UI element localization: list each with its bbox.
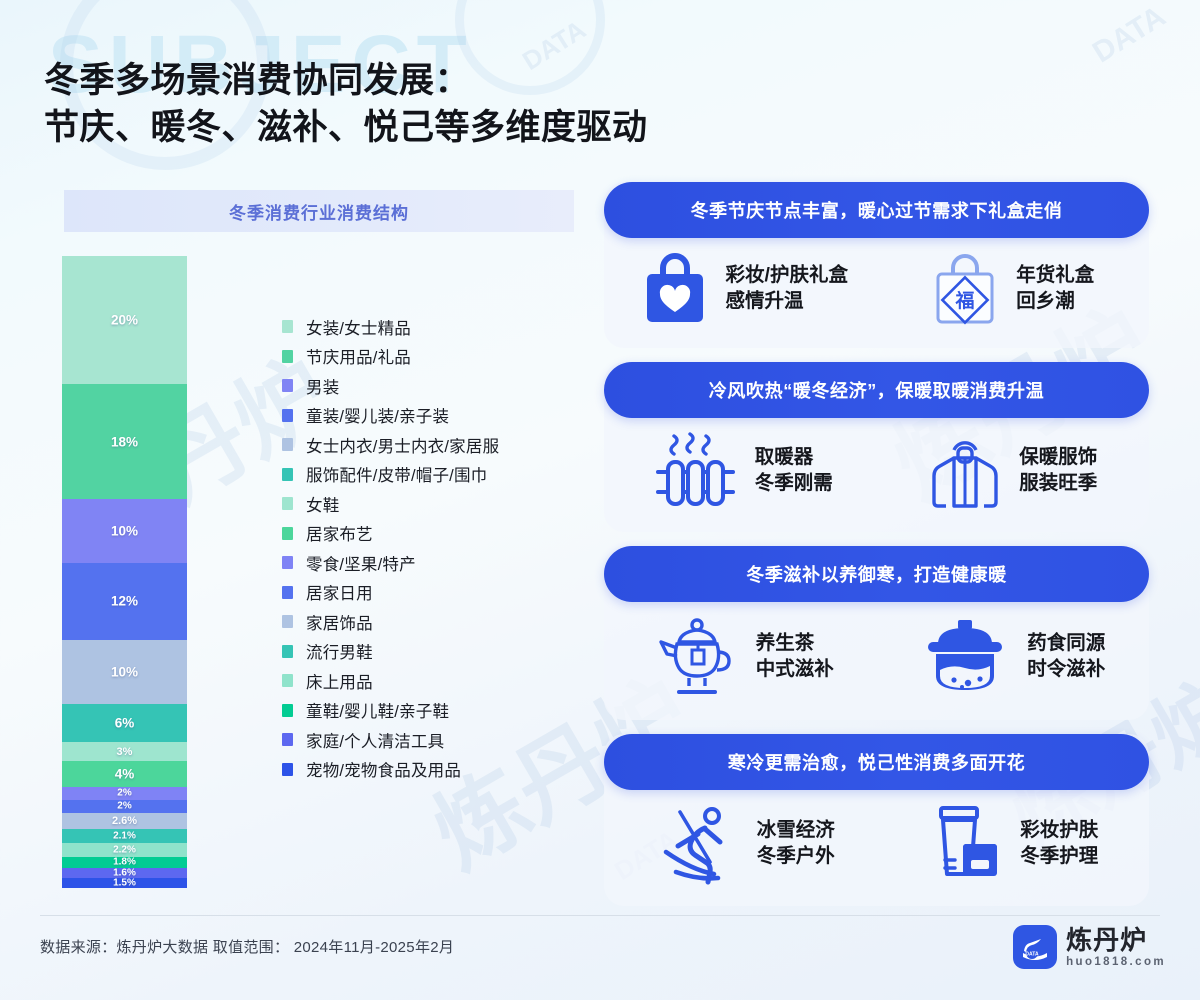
bar-segment-label: 10% [62, 524, 187, 539]
scenario-item-line1: 彩妆护肤 [1020, 817, 1098, 843]
scenario-card-header: 冷风吹热“暖冬经济”，保暖取暖消费升温 [604, 362, 1149, 418]
legend-swatch [282, 674, 293, 687]
bar-segment-label: 3% [62, 746, 187, 758]
scenario-item[interactable]: 药食同源时令滋补 [877, 612, 1146, 700]
scenario-item-caption: 药食同源时令滋补 [1027, 630, 1105, 682]
legend-item[interactable]: 童鞋/婴儿鞋/亲子鞋 [282, 696, 582, 726]
cosmetic-tube-icon [923, 800, 1007, 886]
legend-label: 零食/坚果/特产 [306, 551, 416, 575]
legend-item[interactable]: 床上用品 [282, 666, 582, 696]
gift-bag-heart-icon [637, 248, 713, 328]
teapot-icon [651, 612, 743, 700]
scenario-item-line2: 冬季户外 [757, 843, 835, 869]
page-title-line2: 节庆、暖冬、滋补、悦己等多维度驱动 [44, 105, 864, 152]
scenario-item-line2: 服装旺季 [1019, 470, 1097, 496]
legend-item[interactable]: 女士内衣/男士内衣/家居服 [282, 430, 582, 460]
logo-text-en: huo1818.com [1066, 956, 1166, 968]
logo-mark-icon: DATA [1013, 925, 1057, 969]
scenario-item-line2: 中式滋补 [756, 656, 834, 682]
scenario-card-title: 冬季节庆节点丰富，暖心过节需求下礼盒走俏 [691, 197, 1063, 223]
bar-segment-label: 12% [62, 594, 187, 609]
bar-segment: 18% [62, 384, 187, 499]
scenario-item[interactable]: 冰雪经济冬季户外 [608, 800, 877, 886]
scenario-item-line1: 取暖器 [755, 444, 833, 470]
scenario-item-line1: 彩妆/护肤礼盒 [726, 262, 848, 288]
bar-segment-label: 2.2% [62, 844, 187, 855]
page-title: 冬季多场景消费协同发展： 节庆、暖冬、滋补、悦己等多维度驱动 [44, 58, 864, 151]
scenario-item[interactable]: 取暖器冬季刚需 [608, 428, 877, 512]
bar-segment-label: 2% [62, 788, 187, 799]
bar-segment: 3% [62, 742, 187, 761]
legend-swatch [282, 527, 293, 540]
steamer-pot-icon [916, 614, 1014, 698]
legend-item[interactable]: 节庆用品/礼品 [282, 342, 582, 372]
scenario-item-line1: 冰雪经济 [757, 817, 835, 843]
legend-item[interactable]: 居家日用 [282, 578, 582, 608]
legend-label: 家庭/个人清洁工具 [306, 728, 444, 752]
bar-segment: 2% [62, 787, 187, 800]
legend-item[interactable]: 服饰配件/皮带/帽子/围巾 [282, 460, 582, 490]
legend-swatch [282, 615, 293, 628]
fu-gift-bag-icon: 福 [927, 248, 1003, 328]
legend-item[interactable]: 女鞋 [282, 489, 582, 519]
legend-swatch [282, 645, 293, 658]
scenario-card-body: 冰雪经济冬季户外 彩妆护肤冬季护理 [604, 790, 1149, 898]
bar-segment: 12% [62, 563, 187, 640]
legend-label: 女装/女士精品 [306, 315, 411, 339]
scenario-item-caption: 冰雪经济冬季户外 [757, 817, 835, 869]
bar-segment-label: 20% [62, 312, 187, 327]
down-jacket-icon [924, 428, 1006, 512]
legend-label: 床上用品 [306, 669, 373, 693]
bar-segment: 10% [62, 640, 187, 704]
legend-label: 童鞋/婴儿鞋/亲子鞋 [306, 698, 449, 722]
legend-swatch [282, 763, 293, 776]
scenario-item-line2: 时令滋补 [1027, 656, 1105, 682]
legend-label: 流行男鞋 [306, 639, 373, 663]
legend-label: 居家布艺 [306, 521, 373, 545]
scenario-item-line2: 感情升温 [726, 288, 848, 314]
chart-panel-title: 冬季消费行业消费结构 [229, 199, 409, 224]
page-title-line1: 冬季多场景消费协同发展： [44, 58, 864, 105]
scenario-card: 冷风吹热“暖冬经济”，保暖取暖消费升温 取暖器冬季刚需 保暖服饰服装旺季 [604, 362, 1149, 532]
legend-item[interactable]: 男装 [282, 371, 582, 401]
scenario-item-caption: 养生茶中式滋补 [756, 630, 834, 682]
legend-swatch [282, 468, 293, 481]
chart-panel-header: 冬季消费行业消费结构 [64, 190, 574, 232]
legend-swatch [282, 556, 293, 569]
bar-segment: 2% [62, 800, 187, 813]
legend-label: 女鞋 [306, 492, 339, 516]
legend-item[interactable]: 女装/女士精品 [282, 312, 582, 342]
legend-label: 男装 [306, 374, 339, 398]
stacked-bar-chart: 20%18%10%12%10%6%3%4%2%2%2.6%2.1%2.2%1.8… [62, 256, 187, 888]
scenario-item-line1: 养生茶 [756, 630, 834, 656]
legend-label: 居家日用 [306, 580, 373, 604]
legend-item[interactable]: 童装/婴儿装/亲子装 [282, 401, 582, 431]
scenario-card-body: 取暖器冬季刚需 保暖服饰服装旺季 [604, 418, 1149, 524]
scenario-item-line2: 冬季刚需 [755, 470, 833, 496]
scenario-item-line2: 冬季护理 [1020, 843, 1098, 869]
scenario-card-body: 养生茶中式滋补 药食同源时令滋补 [604, 602, 1149, 712]
legend-label: 家居饰品 [306, 610, 373, 634]
scenario-item-caption: 保暖服饰服装旺季 [1019, 444, 1097, 496]
svg-text:福: 福 [955, 289, 975, 312]
scenario-item[interactable]: 养生茶中式滋补 [608, 612, 877, 700]
scenario-item[interactable]: 保暖服饰服装旺季 [877, 428, 1146, 512]
legend-item[interactable]: 宠物/宠物食品及用品 [282, 755, 582, 785]
legend-swatch [282, 704, 293, 717]
legend-swatch [282, 350, 293, 363]
legend-swatch [282, 320, 293, 333]
legend-swatch [282, 497, 293, 510]
scenario-item[interactable]: 彩妆护肤冬季护理 [877, 800, 1146, 886]
scenario-card-body: 彩妆/护肤礼盒感情升温 福 年货礼盒回乡潮 [604, 238, 1149, 340]
bar-segment-label: 2.6% [62, 815, 187, 827]
legend-label: 节庆用品/礼品 [306, 344, 411, 368]
scenario-item-caption: 取暖器冬季刚需 [755, 444, 833, 496]
legend-swatch [282, 379, 293, 392]
legend-label: 女士内衣/男士内衣/家居服 [306, 433, 499, 457]
legend-swatch [282, 733, 293, 746]
legend-label: 服饰配件/皮带/帽子/围巾 [306, 462, 487, 486]
bar-segment: 20% [62, 256, 187, 384]
scenario-card: 寒冷更需治愈，悦己性消费多面开花 冰雪经济冬季户外 彩妆护肤冬季护理 [604, 734, 1149, 906]
legend-swatch [282, 409, 293, 422]
legend-item[interactable]: 零食/坚果/特产 [282, 548, 582, 578]
scenario-card-header: 寒冷更需治愈，悦己性消费多面开花 [604, 734, 1149, 790]
bar-segment-label: 1.8% [62, 857, 187, 868]
legend-item[interactable]: 流行男鞋 [282, 637, 582, 667]
brand-logo: DATA 炼丹炉 huo1818.com [1013, 925, 1166, 969]
legend-swatch [282, 438, 293, 451]
scenario-card-title: 冷风吹热“暖冬经济”，保暖取暖消费升温 [709, 377, 1044, 403]
bar-segment: 1.8% [62, 857, 187, 869]
bar-segment: 10% [62, 499, 187, 563]
scenario-item-line1: 年货礼盒 [1016, 262, 1094, 288]
bar-segment-label: 2.1% [62, 830, 187, 841]
chart-legend: 女装/女士精品节庆用品/礼品男装童装/婴儿装/亲子装女士内衣/男士内衣/家居服服… [282, 312, 582, 784]
scenario-cards: 冬季节庆节点丰富，暖心过节需求下礼盒走俏 彩妆/护肤礼盒感情升温 福 年货礼盒回… [604, 182, 1149, 920]
scenario-item[interactable]: 彩妆/护肤礼盒感情升温 [608, 248, 877, 328]
scenario-card: 冬季节庆节点丰富，暖心过节需求下礼盒走俏 彩妆/护肤礼盒感情升温 福 年货礼盒回… [604, 182, 1149, 348]
scenario-card-header: 冬季滋补以养御寒，打造健康暖 [604, 546, 1149, 602]
scenario-card-title: 寒冷更需治愈，悦己性消费多面开花 [728, 749, 1026, 775]
bar-segment: 4% [62, 761, 187, 787]
bar-segment-label: 2% [62, 801, 187, 812]
bar-segment-label: 18% [62, 434, 187, 449]
scenario-item-line1: 药食同源 [1027, 630, 1105, 656]
bar-segment: 2.6% [62, 813, 187, 830]
scenario-item-line1: 保暖服饰 [1019, 444, 1097, 470]
scenario-item-caption: 彩妆/护肤礼盒感情升温 [726, 262, 848, 314]
scenario-item-line2: 回乡潮 [1016, 288, 1094, 314]
scenario-card-header: 冬季节庆节点丰富，暖心过节需求下礼盒走俏 [604, 182, 1149, 238]
legend-label: 童装/婴儿装/亲子装 [306, 403, 449, 427]
bar-segment: 1.5% [62, 878, 187, 888]
logo-text-cn: 炼丹炉 [1066, 927, 1166, 953]
footer-divider [40, 915, 1160, 916]
scenario-item-caption: 彩妆护肤冬季护理 [1020, 817, 1098, 869]
radiator-heater-icon [652, 430, 742, 510]
bar-segment-label: 10% [62, 664, 187, 679]
skier-icon [650, 800, 744, 886]
legend-item[interactable]: 家居饰品 [282, 607, 582, 637]
legend-label: 宠物/宠物食品及用品 [306, 757, 461, 781]
scenario-item[interactable]: 福 年货礼盒回乡潮 [877, 248, 1146, 328]
bar-segment: 2.1% [62, 829, 187, 842]
bar-segment-label: 1.5% [62, 878, 187, 888]
legend-item[interactable]: 居家布艺 [282, 519, 582, 549]
scenario-card: 冬季滋补以养御寒，打造健康暖 养生茶中式滋补 药食同源时令滋补 [604, 546, 1149, 720]
data-source-note: 数据来源：炼丹炉大数据 取值范围： 2024年11月-2025年2月 [40, 936, 454, 957]
bar-segment: 2.2% [62, 843, 187, 857]
legend-item[interactable]: 家庭/个人清洁工具 [282, 725, 582, 755]
svg-text:DATA: DATA [1026, 952, 1040, 958]
legend-swatch [282, 586, 293, 599]
bar-segment-label: 4% [62, 767, 187, 782]
bar-segment-label: 6% [62, 715, 187, 730]
bar-segment: 6% [62, 704, 187, 742]
scenario-item-caption: 年货礼盒回乡潮 [1016, 262, 1094, 314]
scenario-card-title: 冬季滋补以养御寒，打造健康暖 [746, 561, 1006, 587]
